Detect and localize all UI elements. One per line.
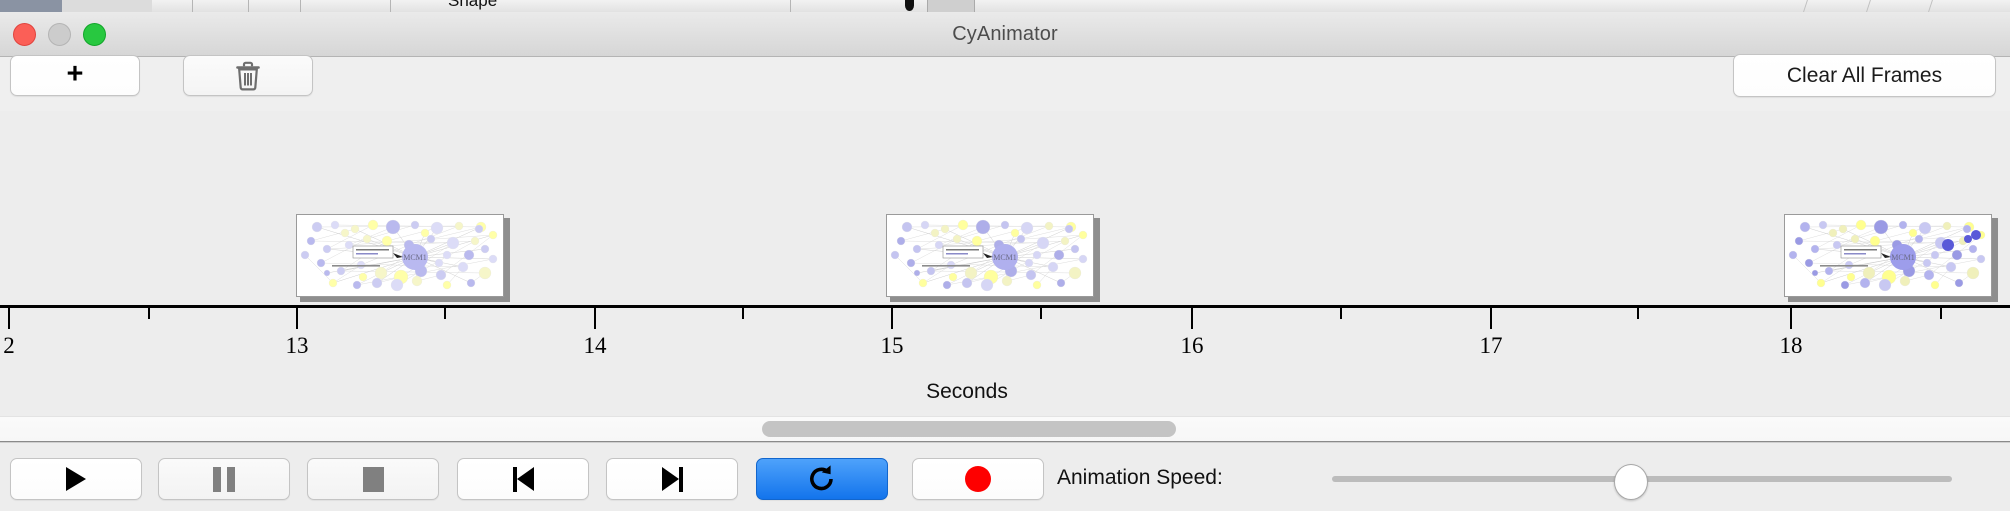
axis-tick-label: 16 (1181, 333, 1204, 359)
frame-thumbnail[interactable]: MCM1 (296, 214, 510, 301)
background-cursor-mark (905, 0, 914, 11)
pause-icon (213, 467, 235, 492)
frame-thumbnail[interactable]: MCM1 (886, 214, 1100, 301)
record-icon (965, 466, 991, 492)
frame-thumbnail-image: MCM1 (886, 214, 1094, 297)
axis-tick-label: 2 (3, 333, 15, 359)
svg-text:MCM1: MCM1 (993, 253, 1017, 262)
pause-button[interactable] (158, 458, 290, 500)
minimize-button[interactable] (48, 23, 71, 46)
frame-thumbnail-image: MCM1 (1784, 214, 1992, 297)
axis-tick (444, 307, 446, 319)
axis-tick (1637, 307, 1639, 319)
cyanimator-window: Shape CyAnimator + Clear All Frames (0, 0, 2010, 510)
axis-tick (1340, 307, 1342, 319)
axis-tick (742, 307, 744, 319)
timeline-axis (0, 305, 2010, 308)
timeline-scrollbar-thumb[interactable] (762, 421, 1176, 437)
previous-frame-button[interactable] (457, 458, 589, 500)
network-graph: MCM1 (1785, 215, 1991, 296)
loop-button[interactable] (756, 458, 888, 500)
loop-icon (807, 464, 837, 494)
axis-title: Seconds (0, 380, 2010, 404)
background-toolbar-chip (0, 0, 62, 12)
animation-speed-slider-knob[interactable] (1614, 464, 1648, 500)
stop-button[interactable] (307, 458, 439, 500)
timeline-scrollbar-track[interactable] (0, 416, 2010, 442)
axis-tick (148, 307, 150, 319)
axis-tick (891, 307, 893, 329)
close-button[interactable] (13, 23, 36, 46)
axis-tick (296, 307, 298, 329)
axis-tick-label: 14 (584, 333, 607, 359)
axis-tick (8, 307, 10, 329)
axis-tick-label: 13 (286, 333, 309, 359)
axis-tick (1940, 307, 1942, 319)
clear-all-frames-label: Clear All Frames (1787, 64, 1942, 88)
axis-tick-label: 15 (881, 333, 904, 359)
clear-all-frames-button[interactable]: Clear All Frames (1733, 54, 1996, 97)
svg-text:MCM1: MCM1 (1891, 253, 1915, 262)
traffic-light-group (13, 12, 133, 56)
axis-tick (1191, 307, 1193, 329)
axis-tick (1790, 307, 1792, 329)
trash-icon (235, 61, 261, 91)
title-bar: CyAnimator (0, 12, 2010, 57)
play-icon (66, 467, 86, 491)
frame-thumbnail-image: MCM1 (296, 214, 504, 297)
record-button[interactable] (912, 458, 1044, 500)
delete-frame-button[interactable] (183, 55, 313, 96)
animation-speed-label: Animation Speed: (1057, 466, 1223, 490)
skip-previous-icon (513, 467, 534, 492)
background-window-strip: Shape (0, 0, 2010, 12)
axis-tick (1490, 307, 1492, 329)
axis-tick (594, 307, 596, 329)
stop-icon (363, 467, 384, 492)
axis-tick (1040, 307, 1042, 319)
svg-text:MCM1: MCM1 (403, 253, 427, 262)
network-graph: MCM1 (887, 215, 1093, 296)
network-graph: MCM1 (297, 215, 503, 296)
play-button[interactable] (10, 458, 142, 500)
add-frame-button[interactable]: + (10, 55, 140, 96)
background-shape-label: Shape (448, 0, 497, 11)
frame-thumbnail[interactable]: MCM1 (1784, 214, 1998, 301)
window-title: CyAnimator (952, 23, 1057, 46)
plus-icon: + (67, 60, 84, 89)
axis-tick-label: 18 (1780, 333, 1803, 359)
next-frame-button[interactable] (606, 458, 738, 500)
skip-next-icon (662, 467, 683, 492)
axis-tick-label: 17 (1480, 333, 1503, 359)
background-toolbar-chip-2 (62, 0, 152, 12)
axis-title-label: Seconds (926, 380, 1008, 403)
zoom-button[interactable] (83, 23, 106, 46)
background-button-chip (927, 0, 975, 12)
